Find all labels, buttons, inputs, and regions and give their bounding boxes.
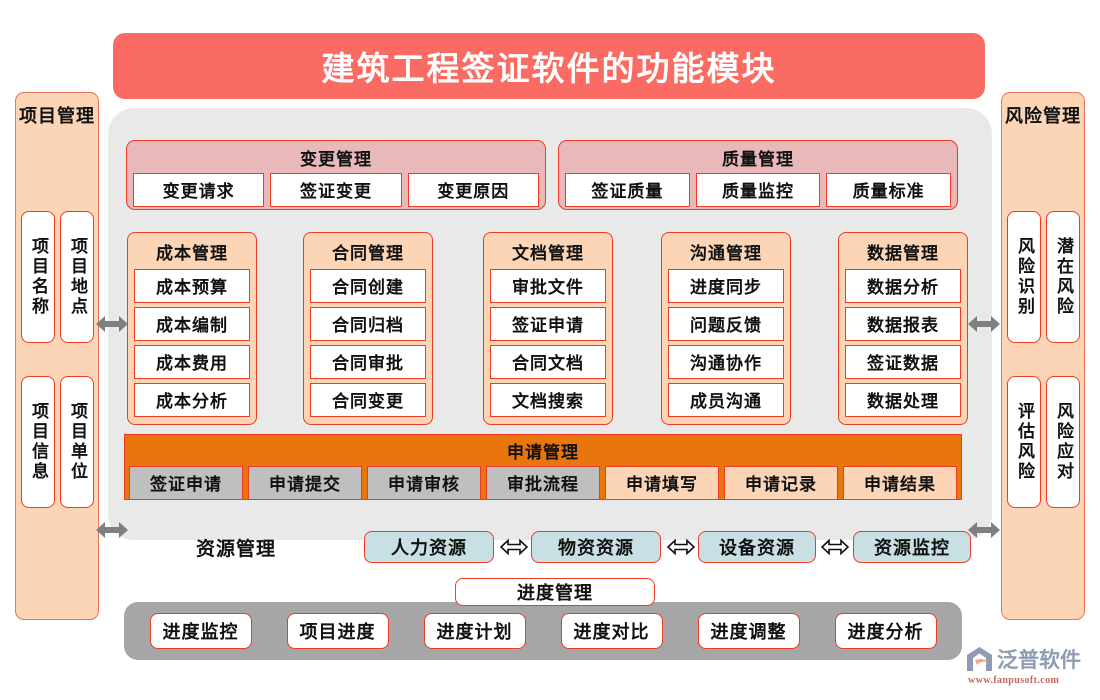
diagram-root: 建筑工程签证软件的功能模块 项目管理 项目名称 项目地点 项目信息 项目单位 风… [0,0,1100,700]
category-data-management[interactable]: 数据管理 数据分析 数据报表 签证数据 数据处理 [838,232,968,425]
sidebar-item-risk-response[interactable]: 风险应对 [1046,376,1080,508]
group-change-management-title: 变更管理 [127,141,545,173]
category-contract-management[interactable]: 合同管理 合同创建 合同归档 合同审批 合同变更 [303,232,433,425]
visa-change-item[interactable]: 签证变更 [270,173,401,207]
brand-url: www.fanpusoft.com [968,675,1092,686]
sidebar-item-project-unit[interactable]: 项目单位 [60,376,94,508]
quality-standard-item[interactable]: 质量标准 [826,173,951,207]
visa-quality-item[interactable]: 签证质量 [565,173,690,207]
resource-monitor-item[interactable]: 资源监控 [853,531,971,563]
category-document-management-title: 文档管理 [490,236,606,269]
page-title: 建筑工程签证软件的功能模块 [113,33,985,99]
application-result-item[interactable]: 申请结果 [843,466,957,500]
sidebar-item-potential-risk[interactable]: 潜在风险 [1046,211,1080,343]
category-cost-management-title: 成本管理 [134,236,250,269]
application-review-item[interactable]: 申请审核 [367,466,481,500]
connector-arrow-left-bottom-icon [94,519,130,541]
progress-monitor-item[interactable]: 进度监控 [150,613,252,649]
category-communication-management-title: 沟通管理 [668,236,784,269]
data-processing-item[interactable]: 数据处理 [845,383,961,417]
material-resource-item[interactable]: 物资资源 [531,531,661,563]
approval-document-item[interactable]: 审批文件 [490,269,606,303]
sidebar-item-project-name[interactable]: 项目名称 [21,211,55,343]
progress-plan-item[interactable]: 进度计划 [424,613,526,649]
brand-logo: 泛普软件 www.fanpusoft.com [966,644,1092,690]
sidebar-right-title: 风险管理 [1002,93,1084,127]
group-application-management[interactable]: 申请管理 签证申请 申请提交 申请审核 审批流程 申请填写 申请记录 申请结果 [124,434,962,500]
resource-management-label: 资源管理 [196,534,276,561]
category-cost-management[interactable]: 成本管理 成本预算 成本编制 成本费用 成本分析 [127,232,257,425]
equipment-resource-item[interactable]: 设备资源 [698,531,816,563]
sidebar-left-title: 项目管理 [16,93,98,127]
sidebar-item-risk-identify[interactable]: 风险识别 [1007,211,1041,343]
fanpu-logo-mark-icon [966,646,993,673]
data-report-item[interactable]: 数据报表 [845,307,961,341]
cost-preparation-item[interactable]: 成本编制 [134,307,250,341]
issue-feedback-item[interactable]: 问题反馈 [668,307,784,341]
category-document-management[interactable]: 文档管理 审批文件 签证申请 合同文档 文档搜索 [483,232,613,425]
member-communication-item[interactable]: 成员沟通 [668,383,784,417]
application-management-title: 申请管理 [125,435,961,466]
connector-arrow-right-bottom-icon [966,519,1002,541]
group-quality-management-title: 质量管理 [559,141,957,173]
application-fill-item[interactable]: 申请填写 [605,466,719,500]
sidebar-risk-management[interactable]: 风险管理 风险识别 潜在风险 评估风险 风险应对 [1001,92,1085,620]
sidebar-item-project-location[interactable]: 项目地点 [60,211,94,343]
application-record-item[interactable]: 申请记录 [724,466,838,500]
cost-analysis-item[interactable]: 成本分析 [134,383,250,417]
group-quality-management[interactable]: 质量管理 签证质量 质量监控 质量标准 [558,140,958,210]
progress-management-title: 进度管理 [455,578,655,606]
progress-adjust-item[interactable]: 进度调整 [698,613,800,649]
contract-create-item[interactable]: 合同创建 [310,269,426,303]
progress-management-bar[interactable]: 进度监控 项目进度 进度计划 进度对比 进度调整 进度分析 [124,602,962,660]
visa-application-item[interactable]: 签证申请 [490,307,606,341]
quality-monitor-item[interactable]: 质量监控 [696,173,821,207]
visa-application-bar-item[interactable]: 签证申请 [129,466,243,500]
category-data-management-title: 数据管理 [845,236,961,269]
cost-budget-item[interactable]: 成本预算 [134,269,250,303]
human-resource-item[interactable]: 人力资源 [364,531,494,563]
data-analysis-item[interactable]: 数据分析 [845,269,961,303]
resource-arrow-1-icon [500,538,528,556]
change-request-item[interactable]: 变更请求 [133,173,264,207]
sidebar-project-management[interactable]: 项目管理 项目名称 项目地点 项目信息 项目单位 [15,92,99,620]
sidebar-item-assess-risk[interactable]: 评估风险 [1007,376,1041,508]
contract-change-item[interactable]: 合同变更 [310,383,426,417]
category-communication-management[interactable]: 沟通管理 进度同步 问题反馈 沟通协作 成员沟通 [661,232,791,425]
connector-arrow-left-top-icon [94,313,130,335]
resource-arrow-2-icon [667,538,695,556]
application-submit-item[interactable]: 申请提交 [248,466,362,500]
contract-document-item[interactable]: 合同文档 [490,345,606,379]
visa-data-item[interactable]: 签证数据 [845,345,961,379]
progress-compare-item[interactable]: 进度对比 [561,613,663,649]
approval-workflow-item[interactable]: 审批流程 [486,466,600,500]
connector-arrow-right-top-icon [966,313,1002,335]
progress-sync-item[interactable]: 进度同步 [668,269,784,303]
project-progress-item[interactable]: 项目进度 [287,613,389,649]
category-contract-management-title: 合同管理 [310,236,426,269]
document-search-item[interactable]: 文档搜索 [490,383,606,417]
progress-analysis-item[interactable]: 进度分析 [835,613,937,649]
contract-archive-item[interactable]: 合同归档 [310,307,426,341]
communication-collab-item[interactable]: 沟通协作 [668,345,784,379]
change-reason-item[interactable]: 变更原因 [408,173,539,207]
cost-expense-item[interactable]: 成本费用 [134,345,250,379]
sidebar-item-project-info[interactable]: 项目信息 [21,376,55,508]
resource-arrow-3-icon [821,538,849,556]
brand-name: 泛普软件 [997,644,1081,674]
group-change-management[interactable]: 变更管理 变更请求 签证变更 变更原因 [126,140,546,210]
contract-approval-item[interactable]: 合同审批 [310,345,426,379]
